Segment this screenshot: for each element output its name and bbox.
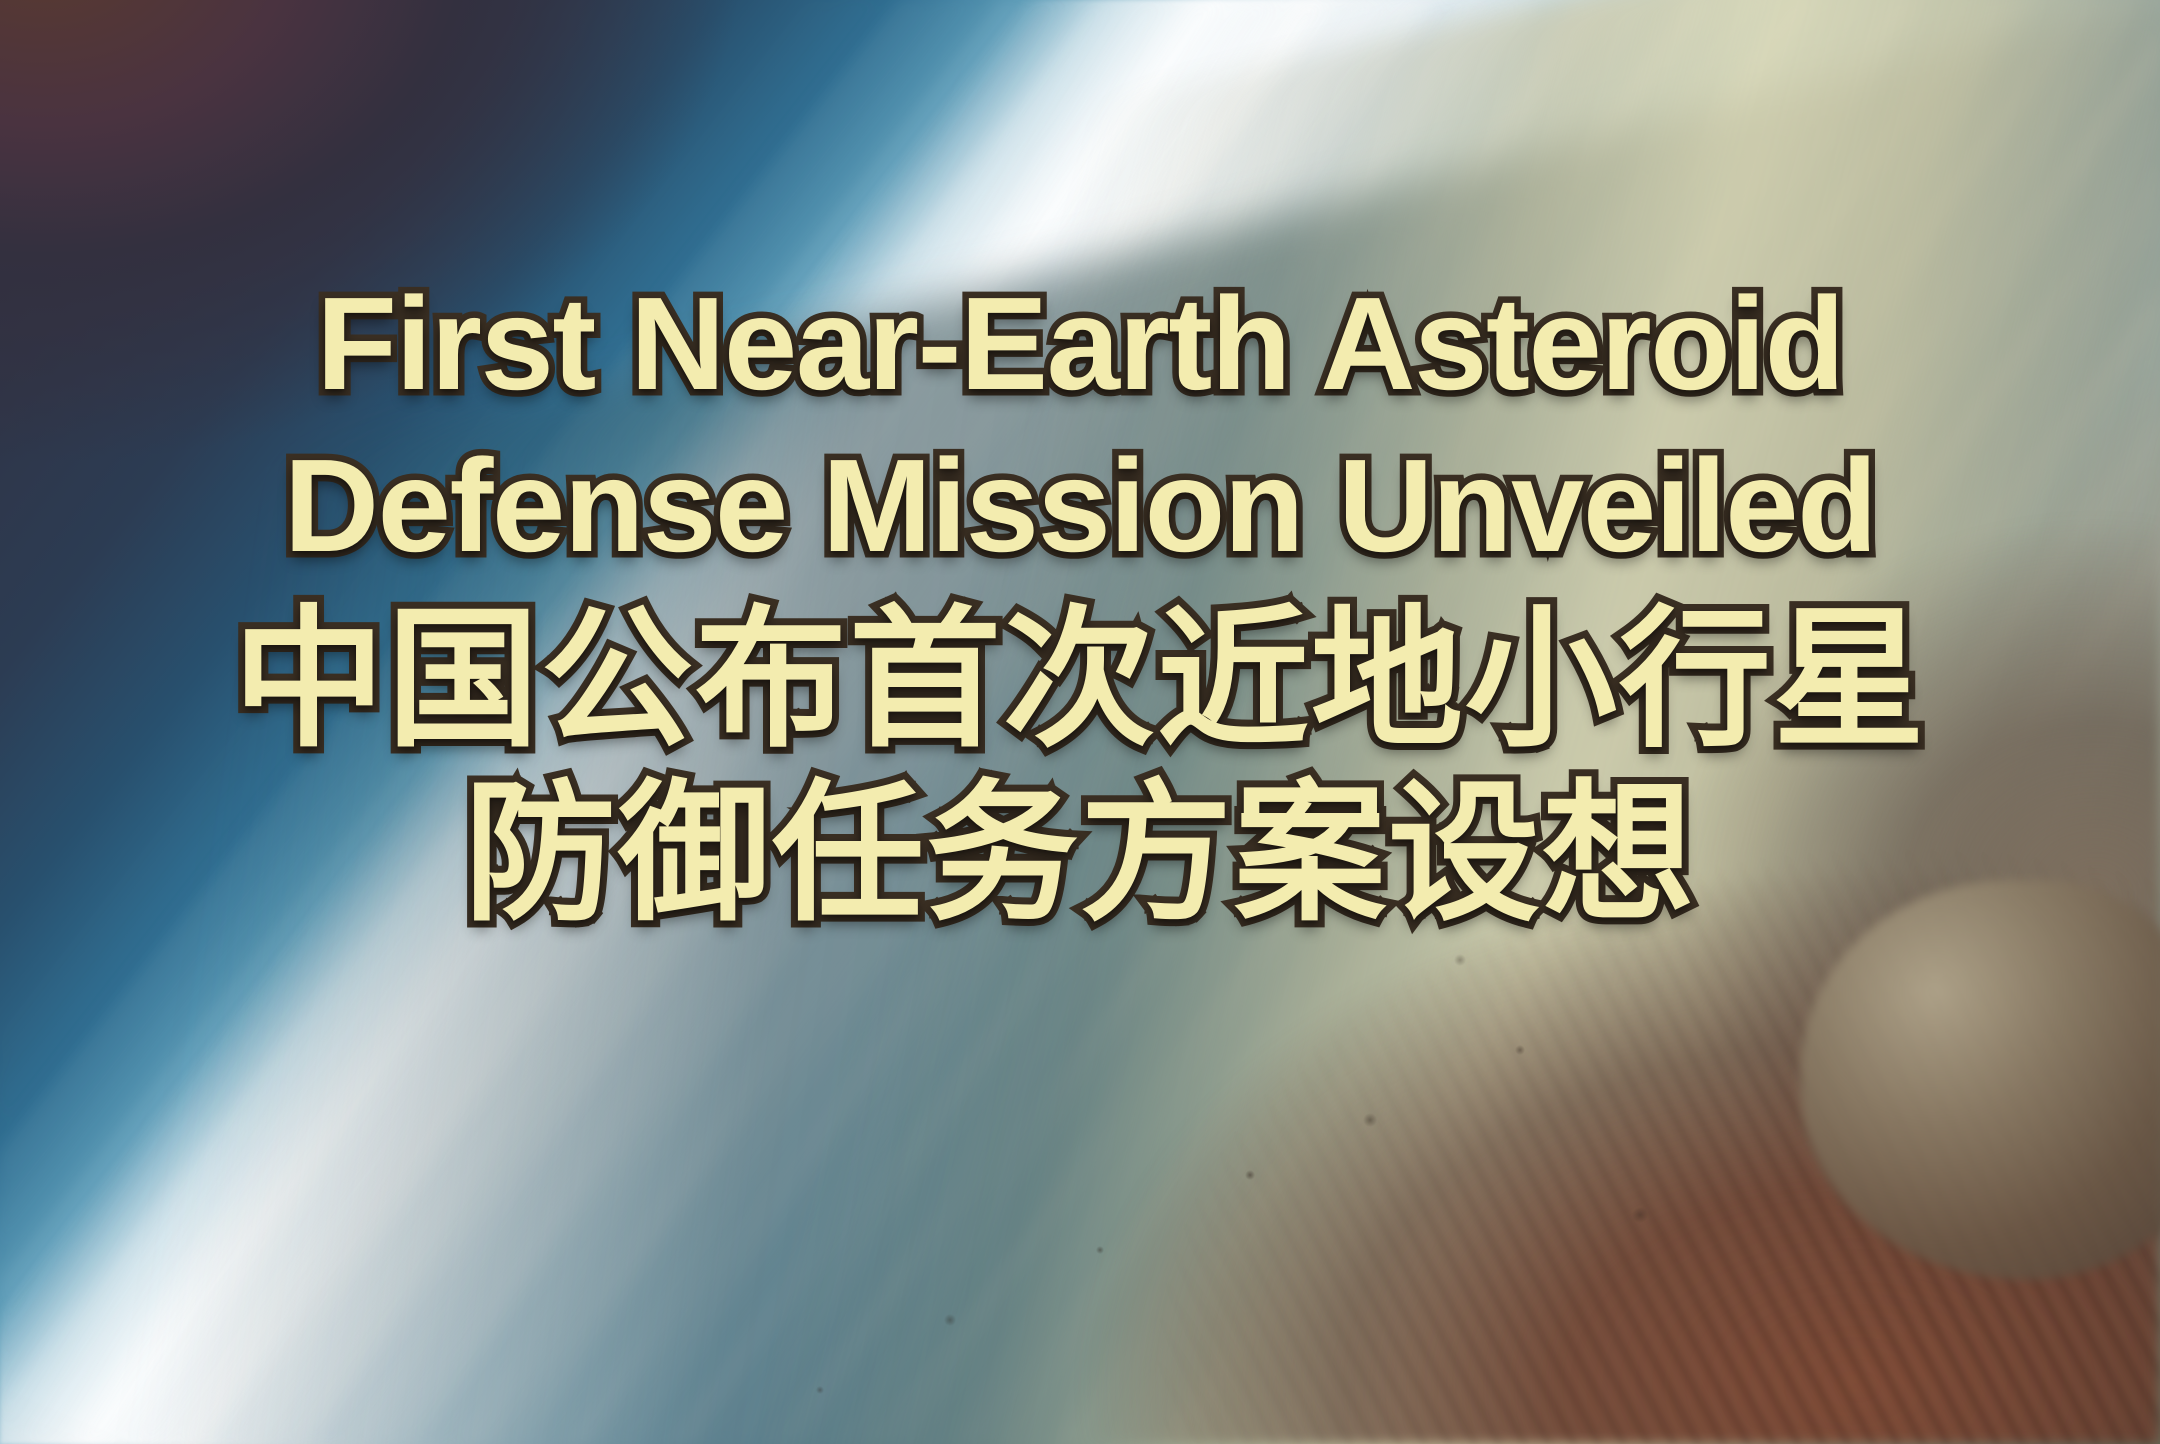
- headline-english-line-2: Defense Mission Unveiled: [284, 440, 1876, 572]
- headline-overlay: First Near-Earth Asteroid Defense Missio…: [0, 0, 2160, 1444]
- thumbnail-canvas: First Near-Earth Asteroid Defense Missio…: [0, 0, 2160, 1444]
- headline-english-line-1: First Near-Earth Asteroid: [316, 278, 1843, 410]
- headline-chinese-line-1: 中国公布首次近地小行星: [233, 604, 1927, 756]
- headline-chinese-line-2: 防御任务方案设想: [464, 778, 1696, 930]
